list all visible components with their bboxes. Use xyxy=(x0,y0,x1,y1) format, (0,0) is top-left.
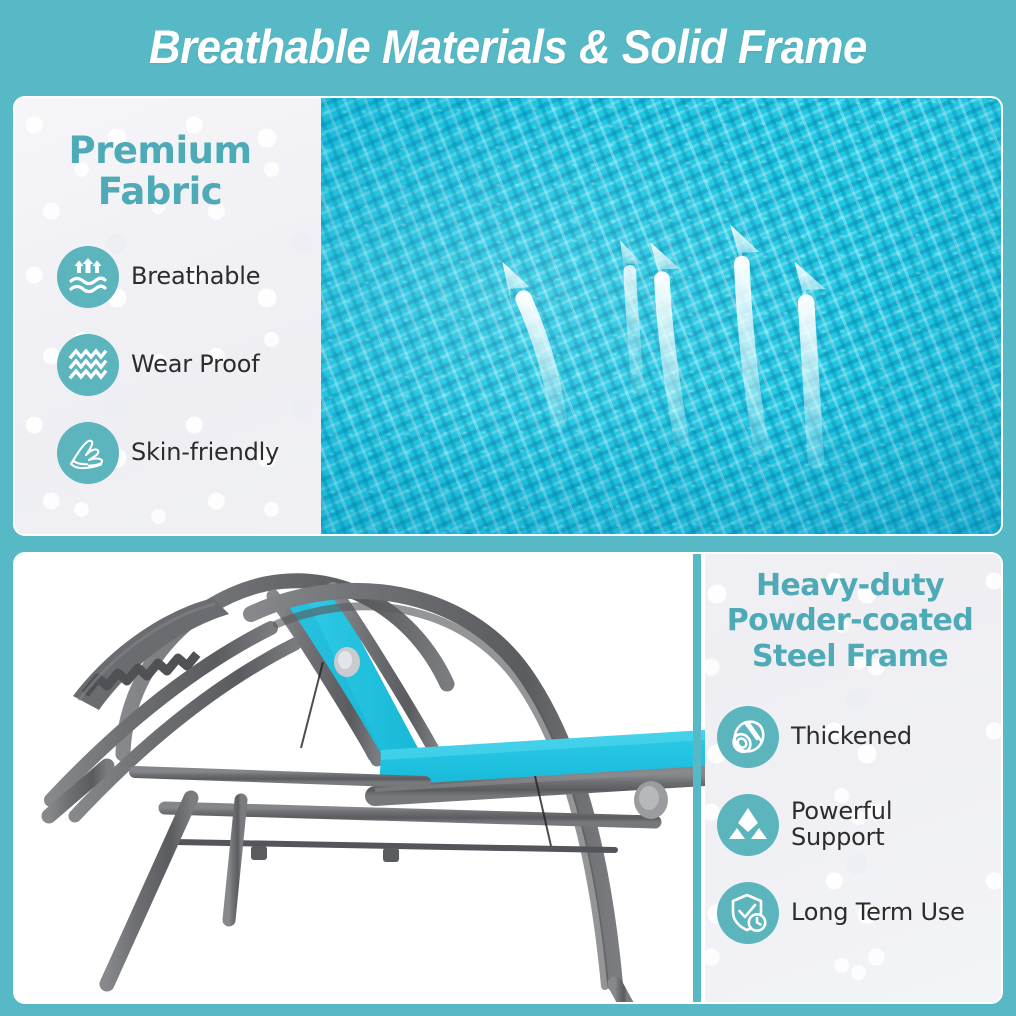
feature-powerful-support-label-line1: Powerful xyxy=(791,797,892,825)
frame-heading: Heavy-duty Powder-coated Steel Frame xyxy=(701,568,999,674)
breathable-waves-icon xyxy=(57,246,119,308)
frame-heading-line3: Steel Frame xyxy=(752,639,948,674)
feature-breathable: Breathable xyxy=(57,246,317,308)
powerful-support-mountain-icon xyxy=(717,794,779,856)
frame-text-column: Heavy-duty Powder-coated Steel Frame xyxy=(701,554,1001,1002)
frame-heading-line1: Heavy-duty xyxy=(756,568,944,603)
airflow-arrow-4 xyxy=(730,225,761,449)
zigzag-wear-proof-icon xyxy=(57,334,119,396)
fabric-heading: Premium Fabric xyxy=(15,130,305,213)
steel-frame-panel: Heavy-duty Powder-coated Steel Frame xyxy=(13,552,1003,1004)
fabric-heading-line2: Fabric xyxy=(15,171,305,212)
long-term-use-shield-clock-icon xyxy=(717,882,779,944)
feature-wear-proof-label: Wear Proof xyxy=(131,352,260,378)
airflow-arrow-1 xyxy=(502,262,559,420)
feature-breathable-label: Breathable xyxy=(131,264,260,290)
fabric-text-column: Premium Fabric xyxy=(15,98,321,534)
fabric-heading-line1: Premium xyxy=(68,129,251,172)
chair-front-leg-1 xyxy=(107,798,191,984)
frame-feature-list: Thickened Powerful Support xyxy=(717,706,1003,970)
airflow-arrow-5 xyxy=(794,262,825,461)
frame-heading-line2: Powder-coated xyxy=(727,603,973,638)
feature-skin-friendly: Skin-friendly xyxy=(57,422,317,484)
hand-skin-friendly-icon xyxy=(57,422,119,484)
woven-mesh-fabric-photo xyxy=(321,98,1001,534)
feature-thickened-label: Thickened xyxy=(791,724,912,750)
airflow-arrows-group xyxy=(321,98,1001,527)
feature-skin-friendly-label: Skin-friendly xyxy=(131,440,279,466)
chair-illustration xyxy=(15,554,705,1002)
page-title: Breathable Materials & Solid Frame xyxy=(149,19,867,74)
chair-rear-leg xyxy=(615,984,627,1002)
panel-divider xyxy=(693,554,701,1002)
thickened-tube-icon xyxy=(717,706,779,768)
airflow-arrow-2 xyxy=(620,240,642,390)
feature-long-term-use: Long Term Use xyxy=(717,882,1003,944)
premium-fabric-panel: Premium Fabric xyxy=(13,96,1003,536)
feature-thickened: Thickened xyxy=(717,706,1003,768)
feature-powerful-support-label-line2: Support xyxy=(791,823,884,851)
chair-foot-nub-2 xyxy=(383,848,399,862)
chair-front-leg-2 xyxy=(229,800,241,920)
chair-foot-nub-1 xyxy=(251,846,267,860)
feature-powerful-support: Powerful Support xyxy=(717,794,1003,856)
airflow-arrow-3 xyxy=(650,242,681,439)
feature-long-term-use-label: Long Term Use xyxy=(791,900,965,926)
feature-wear-proof: Wear Proof xyxy=(57,334,317,396)
chair-connector-wire-1 xyxy=(301,662,323,748)
header-banner: Breathable Materials & Solid Frame xyxy=(0,0,1016,92)
fabric-feature-list: Breathable Wear Proof xyxy=(57,246,317,510)
feature-powerful-support-label: Powerful Support xyxy=(791,799,892,851)
lounge-chair-steel-frame-photo xyxy=(15,554,705,1002)
